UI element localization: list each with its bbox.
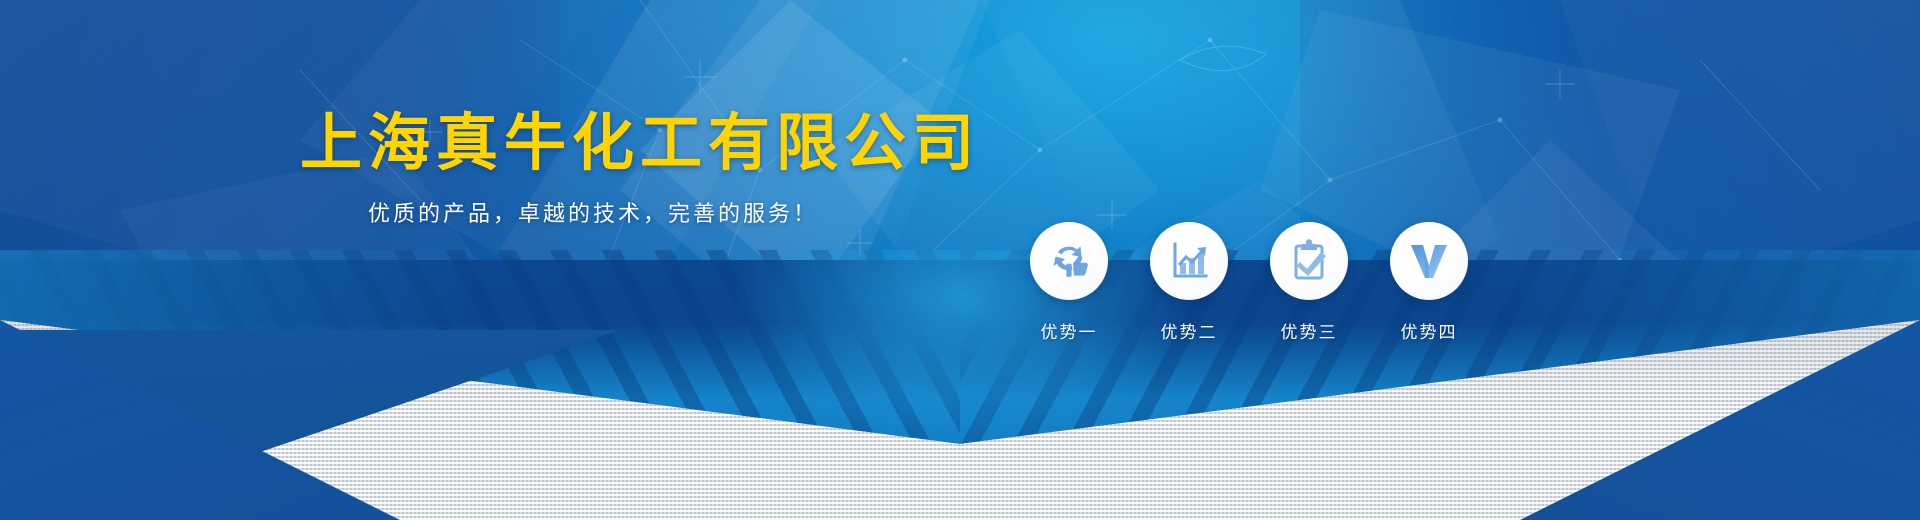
advantages-list: 优势一 (1030, 222, 1468, 343)
advantage-icon-circle-1 (1030, 222, 1108, 300)
v-check-icon (1406, 238, 1452, 284)
advantage-item-3[interactable]: 优势三 (1270, 222, 1348, 343)
advantage-item-4[interactable]: 优势四 (1390, 222, 1468, 343)
advantage-icon-circle-2 (1150, 222, 1228, 300)
company-hero-banner: 上海真牛化工有限公司 优质的产品，卓越的技术，完善的服务！ 优势一 (0, 0, 1920, 520)
advantage-label-4: 优势四 (1401, 318, 1458, 343)
advantage-label-3: 优势三 (1281, 318, 1338, 343)
advantage-item-1[interactable]: 优势一 (1030, 222, 1108, 343)
bar-chart-growth-icon (1166, 238, 1212, 284)
advantage-item-2[interactable]: 优势二 (1150, 222, 1228, 343)
advantage-icon-circle-3 (1270, 222, 1348, 300)
company-title: 上海真牛化工有限公司 (300, 92, 980, 182)
advantage-label-1: 优势一 (1041, 318, 1098, 343)
banner-content: 上海真牛化工有限公司 优质的产品，卓越的技术，完善的服务！ 优势一 (0, 0, 1920, 520)
refresh-thumbs-up-icon (1046, 238, 1092, 284)
advantage-icon-circle-4 (1390, 222, 1468, 300)
advantage-label-2: 优势二 (1161, 318, 1218, 343)
company-slogan: 优质的产品，卓越的技术，完善的服务！ (368, 196, 818, 228)
clipboard-check-icon (1286, 238, 1332, 284)
